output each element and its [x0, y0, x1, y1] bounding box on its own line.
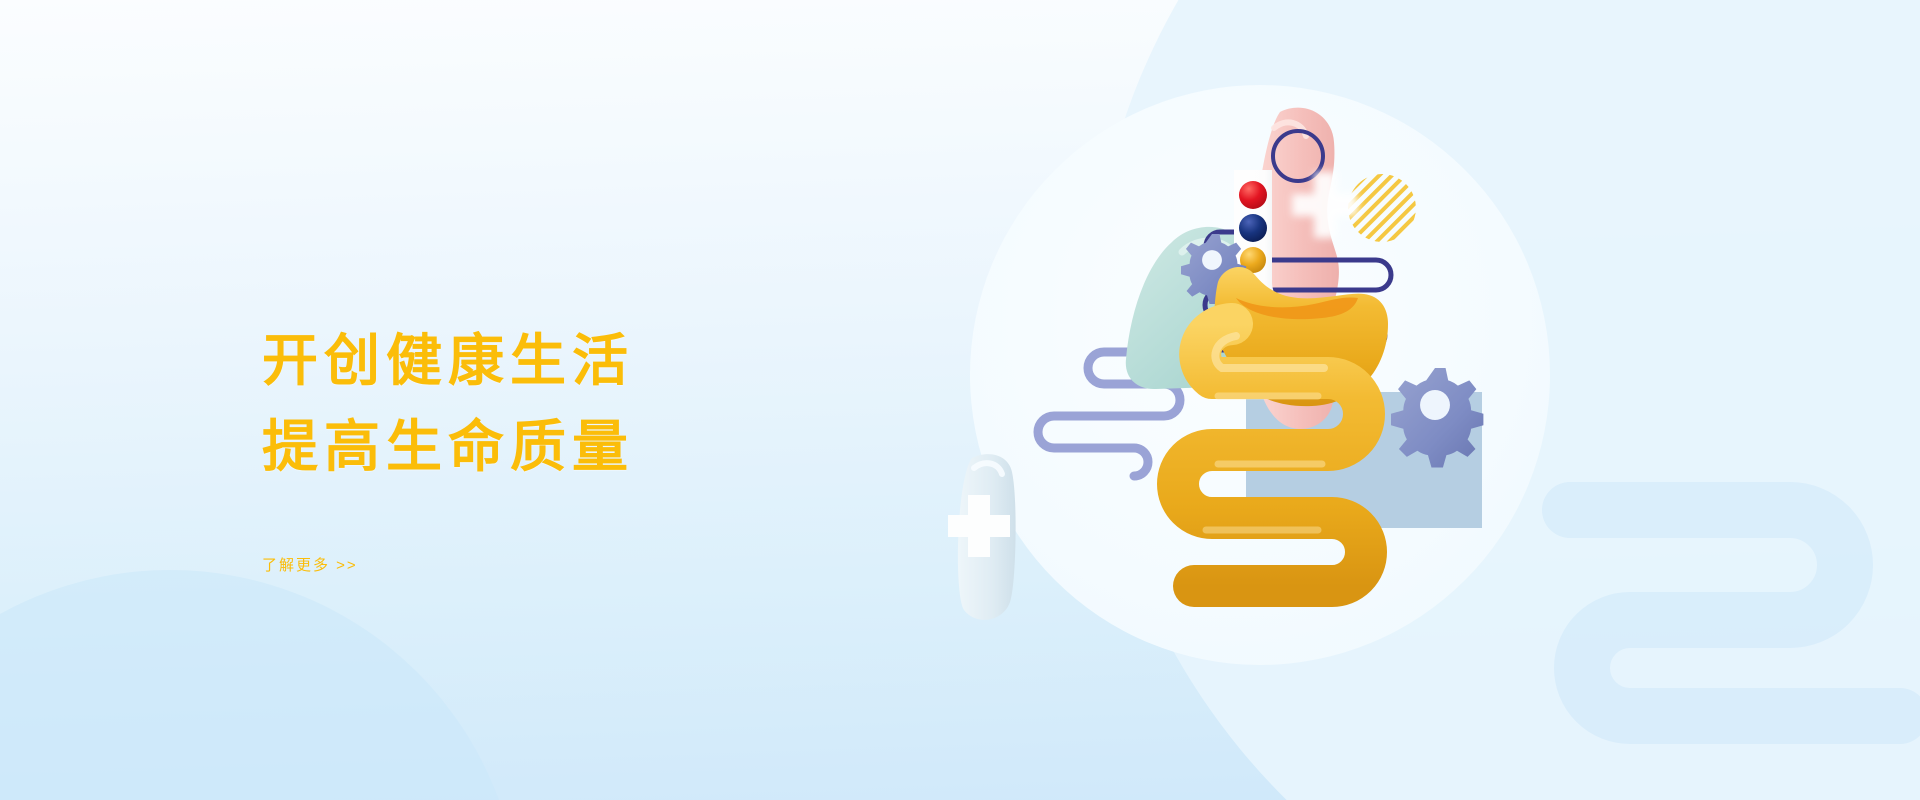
headline-line-1: 开创健康生活	[262, 318, 882, 404]
learn-more-link[interactable]: 了解更多 >>	[262, 554, 358, 575]
test-tube-dot-navy	[1239, 214, 1267, 242]
background-circle-bottom-left	[0, 570, 520, 800]
gear-large	[1391, 368, 1483, 467]
test-tube-dot-red	[1239, 181, 1267, 209]
banner-copy: 开创健康生活 提高生命质量 了解更多 >>	[262, 318, 882, 575]
headline-line-2: 提高生命质量	[262, 404, 882, 490]
digestive-system-illustration	[950, 60, 1670, 760]
striped-circle	[1348, 174, 1416, 242]
hero-banner: 开创健康生活 提高生命质量 了解更多 >>	[0, 0, 1920, 800]
illustration-svg	[950, 60, 1670, 760]
